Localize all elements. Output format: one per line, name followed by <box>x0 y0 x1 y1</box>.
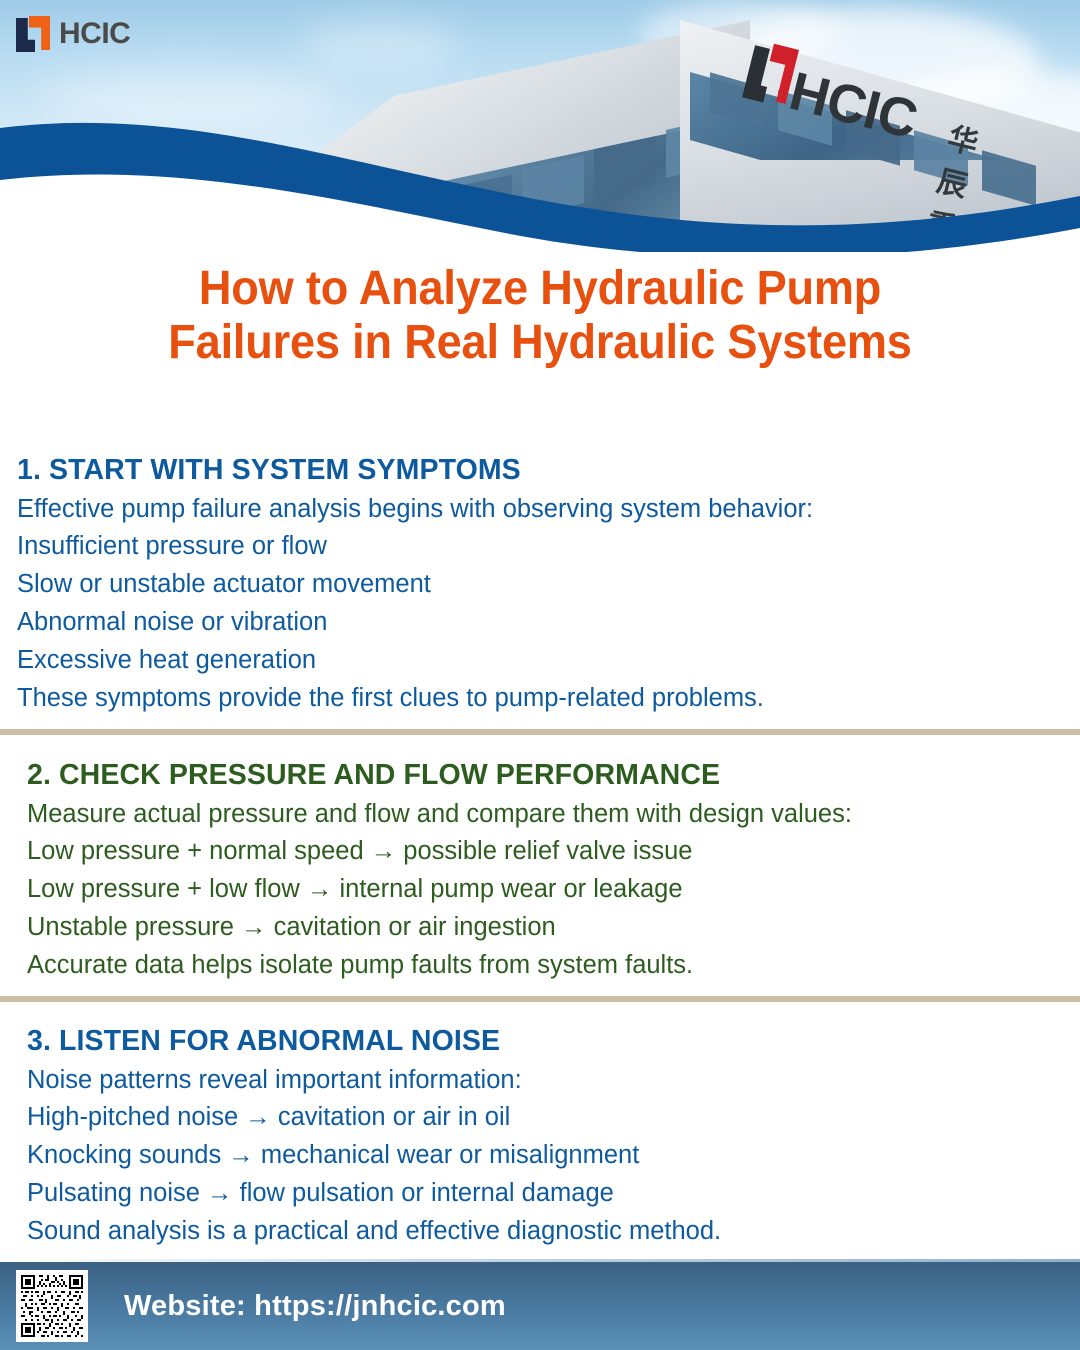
section-2-heading: 2. CHECK PRESSURE AND FLOW PERFORMANCE <box>27 757 1080 795</box>
section-2-line: Low pressure + low flow → internal pump … <box>27 871 1080 909</box>
section-1-heading: 1. START WITH SYSTEM SYMPTOMS <box>17 452 1077 490</box>
section-3-line: Noise patterns reveal important informat… <box>27 1062 1080 1100</box>
section-1-line: Insufficient pressure or flow <box>17 528 1077 566</box>
hcic-logo-mark-icon <box>16 16 50 52</box>
footer-bar: Website: https://jnhcic.com <box>0 1262 1080 1350</box>
section-2-line: Unstable pressure → cavitation or air in… <box>27 909 1080 947</box>
website-label[interactable]: Website: https://jnhcic.com <box>124 1290 506 1323</box>
section-3-line: Knocking sounds → mechanical wear or mis… <box>27 1137 1080 1175</box>
brand-name: HCIC <box>59 17 130 51</box>
section-1-line: Slow or unstable actuator movement <box>17 566 1077 604</box>
section-1-line: These symptoms provide the first clues t… <box>17 680 1077 718</box>
section-2-line: Accurate data helps isolate pump faults … <box>27 947 1080 985</box>
page-title-line1: How to Analyze Hydraulic Pump <box>70 262 1010 316</box>
section-system-symptoms: 1. START WITH SYSTEM SYMPTOMS Effective … <box>17 452 1077 718</box>
section-pressure-flow: 2. CHECK PRESSURE AND FLOW PERFORMANCE M… <box>27 757 1080 985</box>
section-1-line: Excessive heat generation <box>17 642 1077 680</box>
section-abnormal-noise: 3. LISTEN FOR ABNORMAL NOISE Noise patte… <box>27 1023 1080 1251</box>
brand-logo[interactable]: HCIC <box>16 16 130 52</box>
page-title-line2: Failures in Real Hydraulic Systems <box>70 316 1010 370</box>
section-3-line: Pulsating noise → flow pulsation or inte… <box>27 1175 1080 1213</box>
section-3-line: Sound analysis is a practical and effect… <box>27 1213 1080 1251</box>
section-1-line: Effective pump failure analysis begins w… <box>17 491 1077 529</box>
section-2-line: Low pressure + normal speed → possible r… <box>27 833 1080 871</box>
qr-code-svg <box>19 1273 85 1339</box>
section-divider <box>0 996 1080 1002</box>
blue-wave-divider <box>0 0 1080 252</box>
hero-banner: HCIC 华辰重科 <box>0 0 1080 252</box>
section-2-line: Measure actual pressure and flow and com… <box>27 796 1080 834</box>
page-title: How to Analyze Hydraulic Pump Failures i… <box>70 262 1010 370</box>
section-3-line: High-pitched noise → cavitation or air i… <box>27 1099 1080 1137</box>
qr-code-icon[interactable] <box>16 1270 88 1342</box>
section-3-heading: 3. LISTEN FOR ABNORMAL NOISE <box>27 1023 1080 1061</box>
section-1-line: Abnormal noise or vibration <box>17 604 1077 642</box>
section-divider <box>0 729 1080 735</box>
